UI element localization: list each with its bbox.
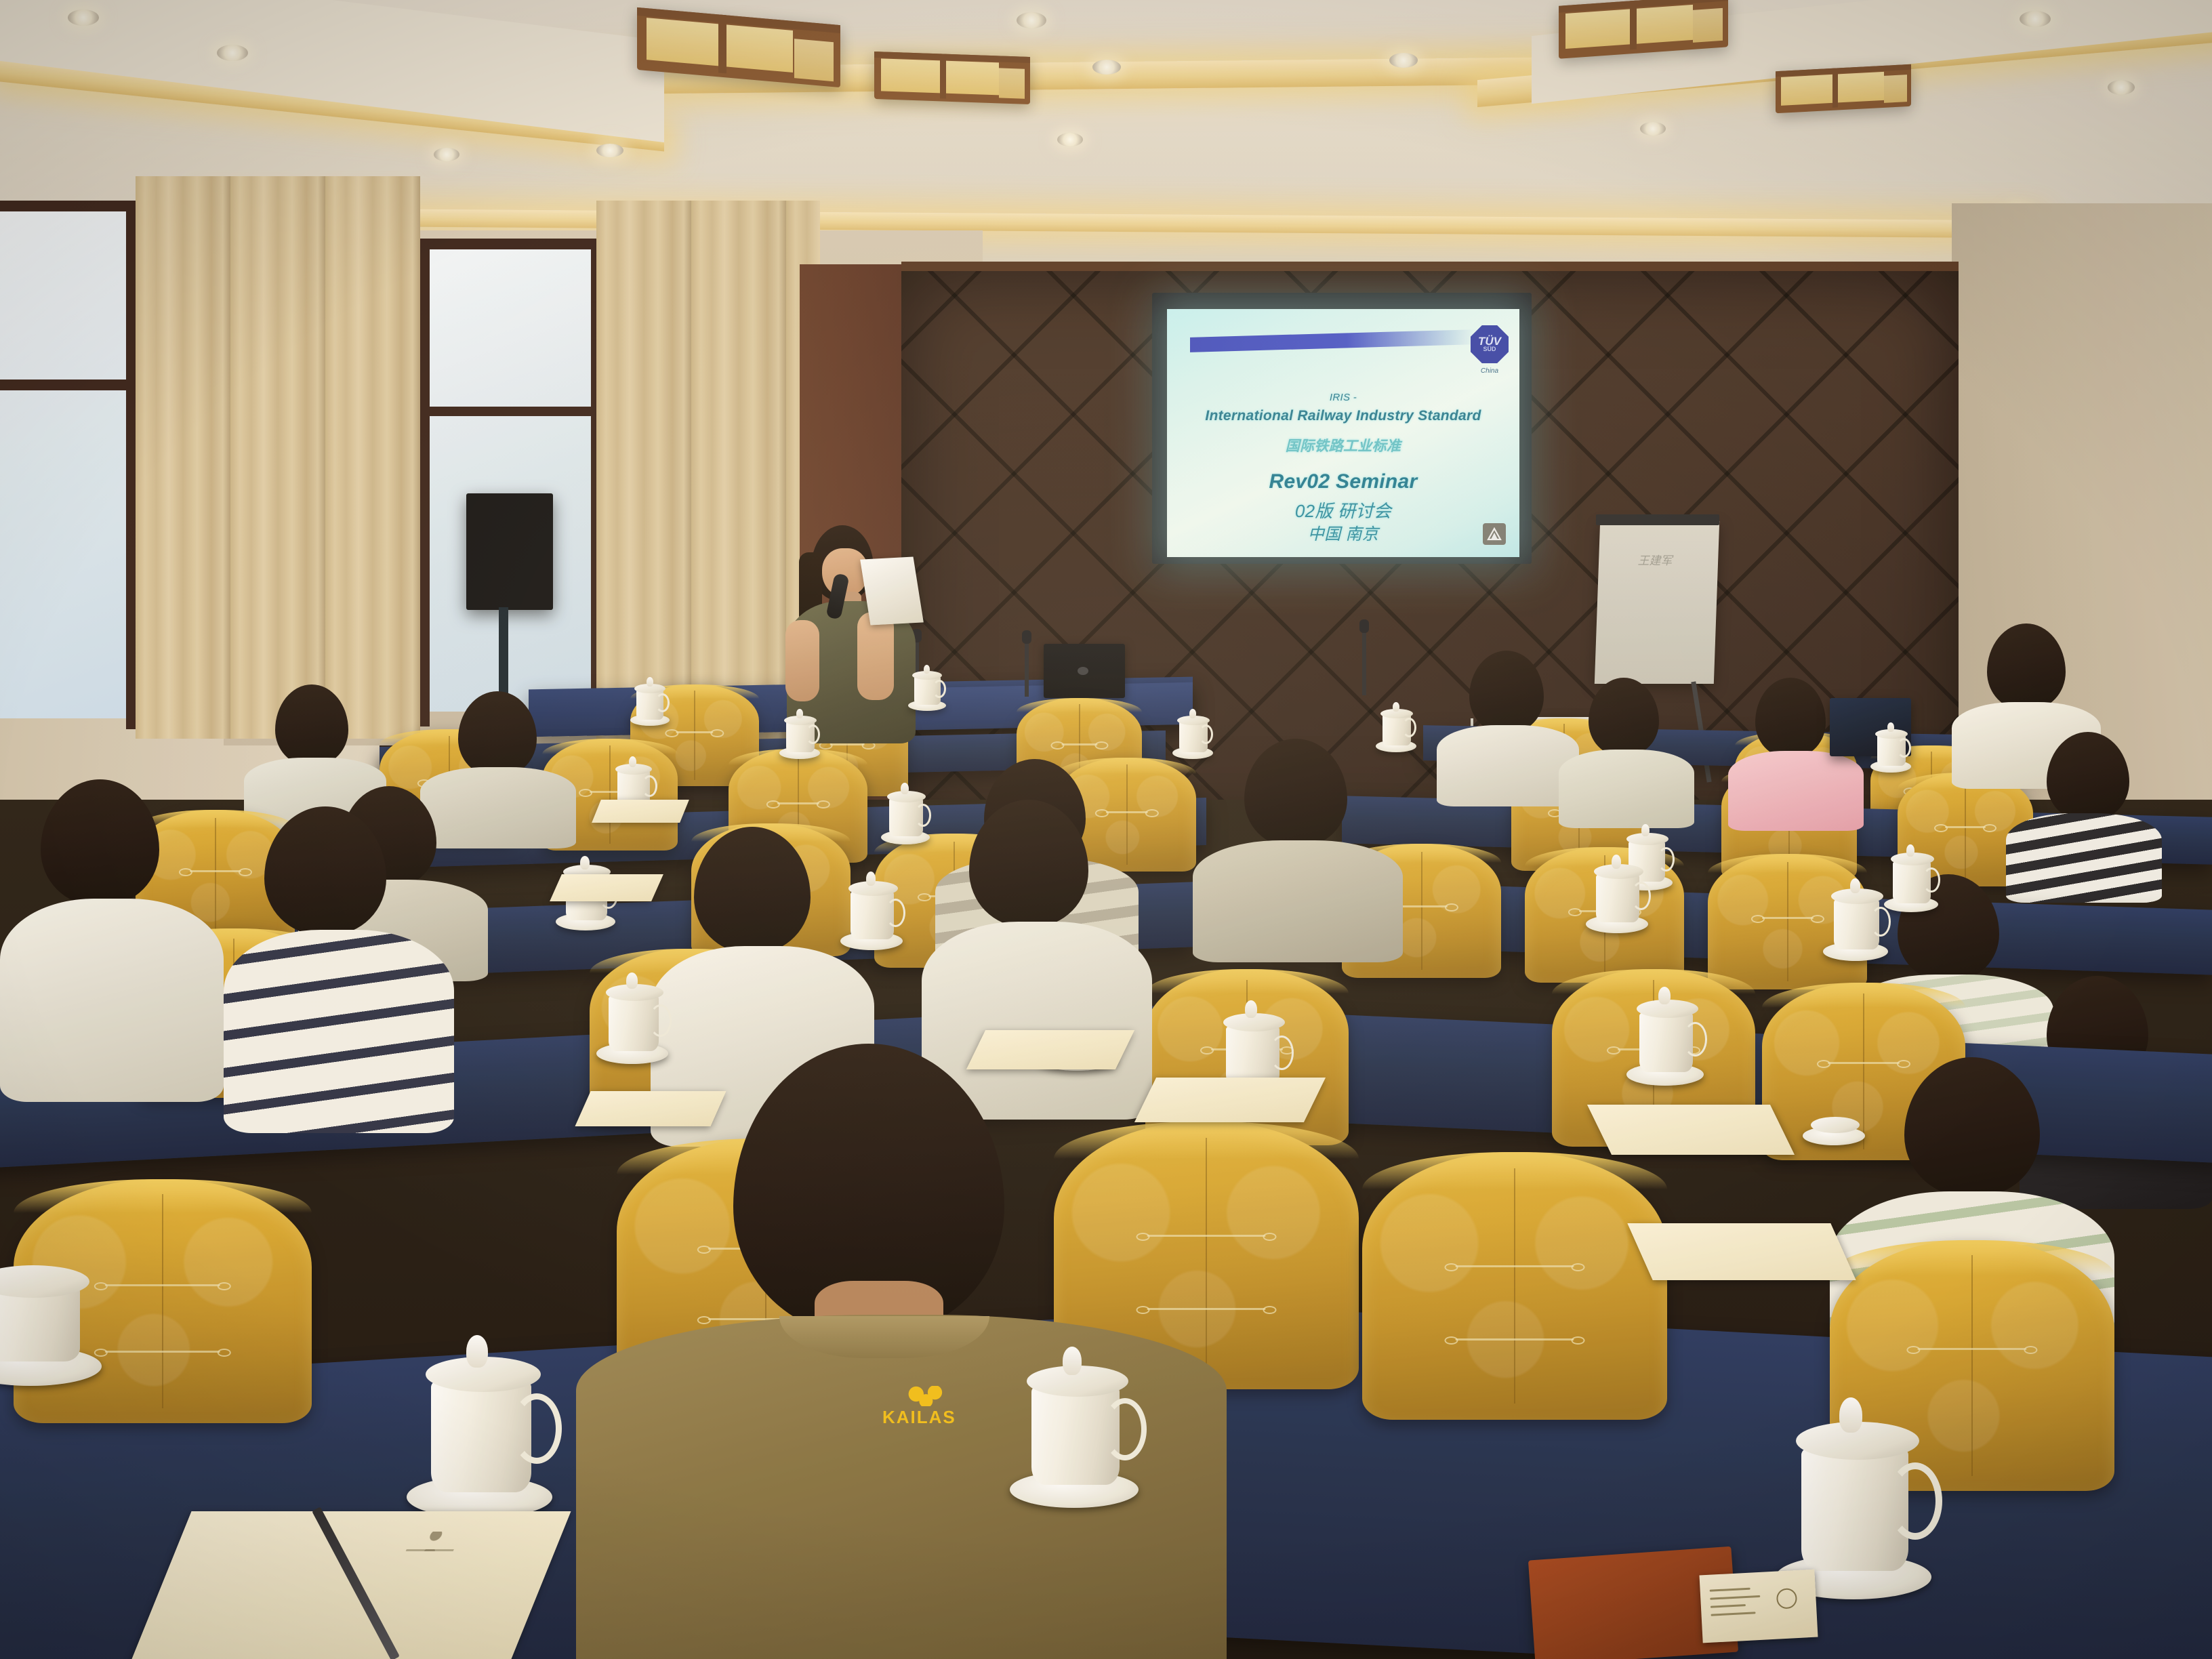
presenter-arm-left <box>785 620 819 701</box>
unife-iris-icon <box>1483 523 1506 545</box>
presenter-arm-right <box>857 612 894 700</box>
slide-accent-bar <box>1190 329 1475 352</box>
kailas-brand-text: KAILAS <box>882 1407 984 1428</box>
teacup <box>1172 705 1213 759</box>
chair <box>1362 1152 1667 1420</box>
attendee <box>0 779 224 1105</box>
slide-line-full-title: International Railway Industry Standard <box>1167 408 1519 424</box>
teacup-foreground <box>407 1325 552 1518</box>
kailas-logo-icon <box>903 1386 947 1406</box>
notepad <box>592 800 689 823</box>
projection-screen-frame: TÜV SÜD China IRIS - International Railw… <box>1152 293 1532 564</box>
flipchart: 王建军 <box>1589 512 1725 688</box>
notepad <box>550 874 663 901</box>
window-mullion <box>420 407 603 416</box>
notepad-foreground <box>120 1511 571 1659</box>
teacup <box>1586 851 1648 933</box>
teacup <box>1626 983 1704 1086</box>
name-card-seal-icon <box>1776 1588 1798 1610</box>
teacup <box>630 674 670 726</box>
hotel-watermark-icon <box>406 1532 462 1551</box>
attendee <box>1559 678 1694 823</box>
teacup <box>1870 718 1911 773</box>
slide-line-cn-city: 中国 南京 <box>1167 520 1519 544</box>
tuv-region-label: China <box>1469 367 1510 375</box>
attendee <box>1437 651 1579 800</box>
teacup-foreground-left <box>0 1277 102 1386</box>
notepad <box>1134 1078 1326 1122</box>
window-glass <box>0 203 136 718</box>
notepad <box>575 1091 726 1126</box>
notepad <box>1587 1105 1795 1155</box>
window-frame <box>420 239 603 249</box>
teacup <box>1884 840 1938 912</box>
slide-line-rev: Rev02 Seminar <box>1167 470 1519 493</box>
tuv-logo-top: TÜV <box>1478 337 1501 346</box>
tuv-logo-bottom: SÜD <box>1483 346 1496 352</box>
window-glass <box>427 244 596 712</box>
teacup <box>596 968 668 1064</box>
attendee <box>1193 739 1403 962</box>
slide-line-cn-seminar: 02版 研讨会 <box>1167 497 1519 523</box>
curtain-left <box>136 176 420 739</box>
teacup <box>1803 1098 1865 1145</box>
projection-screen: TÜV SÜD China IRIS - International Railw… <box>1167 309 1519 557</box>
conference-room-photo: TÜV SÜD China IRIS - International Railw… <box>0 0 2212 1659</box>
notepad <box>1627 1223 1856 1280</box>
teacup-foreground <box>1776 1389 1931 1599</box>
pa-speaker <box>466 493 553 610</box>
teacup <box>908 661 946 711</box>
teacup <box>840 867 903 950</box>
flipchart-paper <box>1595 521 1719 684</box>
teacup <box>1823 874 1888 961</box>
flipchart-clamp <box>1596 514 1719 525</box>
name-card <box>1699 1570 1818 1643</box>
tuv-sud-logo: TÜV SÜD <box>1471 325 1509 363</box>
ceiling-lamp <box>874 52 1030 104</box>
laptop[interactable] <box>1044 644 1125 698</box>
ceiling-lamp <box>1776 64 1911 113</box>
teacup-foreground <box>1010 1338 1139 1508</box>
presenter-paper <box>860 557 924 626</box>
slide-line-cn-standard: 国际铁路工业标准 <box>1167 435 1519 455</box>
notepad <box>966 1030 1134 1069</box>
teacup <box>779 705 820 759</box>
slide-line-iris: IRIS - <box>1167 392 1519 403</box>
teacup <box>881 779 930 844</box>
microphone-stand <box>1025 641 1029 697</box>
flipchart-handwriting: 王建军 <box>1618 554 1692 569</box>
attendee <box>224 806 454 1132</box>
window-frame <box>0 201 136 211</box>
window-mullion <box>0 380 136 390</box>
teacup <box>1376 698 1416 752</box>
microphone-stand <box>1362 630 1366 695</box>
